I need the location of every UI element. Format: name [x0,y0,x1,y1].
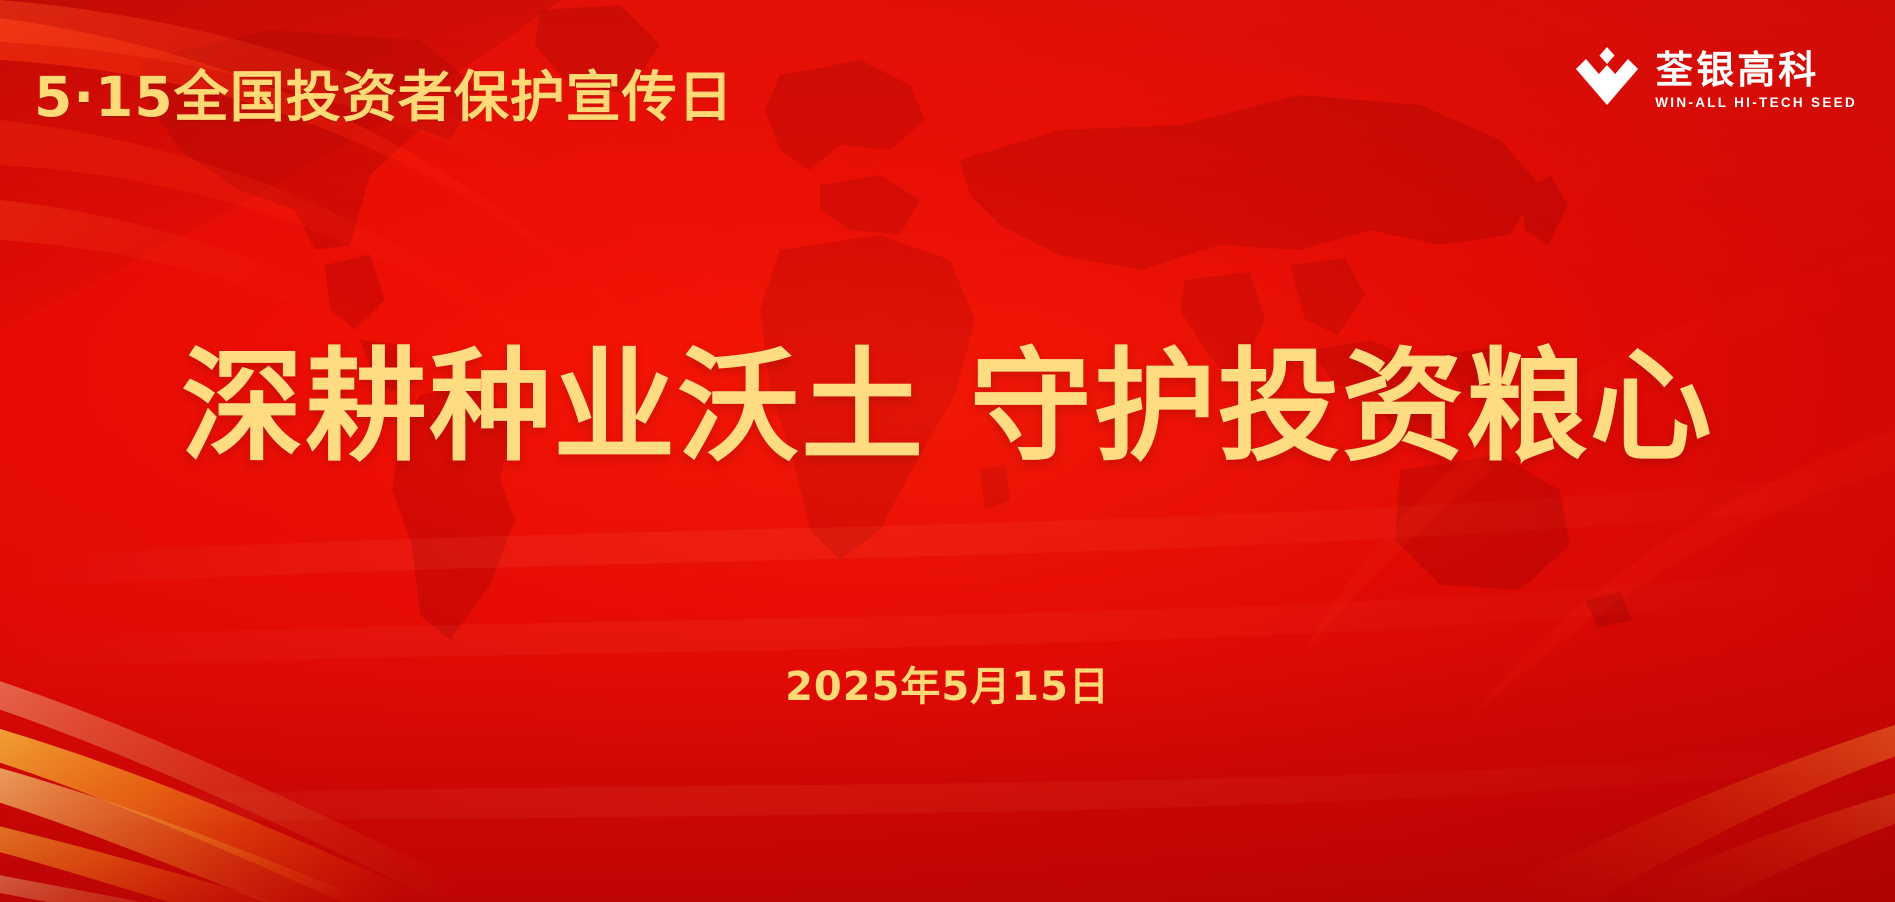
event-date: 2025年5月15日 [0,654,1895,712]
main-slogan: 深耕种业沃土 守护投资粮心 [0,336,1895,480]
campaign-headline: 5·15全国投资者保护宣传日 [34,52,734,132]
logo-text-block: 荃银高科 WIN-ALL HI-TECH SEED [1655,50,1857,110]
company-logo: 荃银高科 WIN-ALL HI-TECH SEED [1576,47,1857,113]
logo-name-en: WIN-ALL HI-TECH SEED [1655,95,1857,110]
logo-name-cn: 荃银高科 [1655,50,1857,90]
poster-banner: 5·15全国投资者保护宣传日 荃银高科 WIN-ALL HI-TECH SEED… [0,0,1895,902]
chevron-diamond-icon [1576,47,1638,113]
